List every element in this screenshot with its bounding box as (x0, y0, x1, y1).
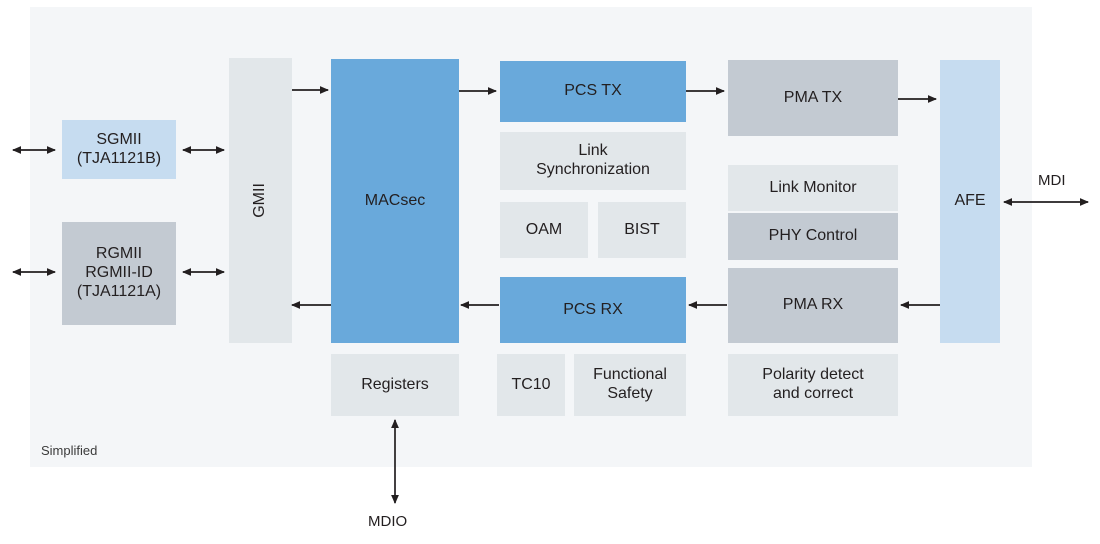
block-rgmii-line3: (TJA1121A) (77, 283, 161, 302)
block-link-sync-line2: Synchronization (536, 161, 650, 180)
block-macsec-label: MACsec (365, 192, 425, 211)
block-pcs-tx[interactable]: PCS TX (500, 61, 686, 122)
block-rgmii[interactable]: RGMII RGMII-ID (TJA1121A) (62, 222, 176, 325)
block-registers-label: Registers (361, 376, 429, 395)
block-functional-safety-line1: Functional (593, 366, 667, 385)
block-registers[interactable]: Registers (331, 354, 459, 416)
block-pma-tx[interactable]: PMA TX (728, 60, 898, 136)
block-macsec[interactable]: MACsec (331, 59, 459, 343)
block-pcs-tx-label: PCS TX (564, 82, 622, 101)
label-mdio: MDIO (368, 513, 407, 530)
block-polarity-detect[interactable]: Polarity detect and correct (728, 354, 898, 416)
block-link-monitor[interactable]: Link Monitor (728, 165, 898, 211)
phy-block-diagram: SGMII (TJA1121B) RGMII RGMII-ID (TJA1121… (0, 0, 1100, 544)
block-sgmii-line2: (TJA1121B) (77, 150, 161, 169)
block-afe-label: AFE (954, 192, 985, 211)
block-link-synchronization[interactable]: Link Synchronization (500, 132, 686, 190)
block-pma-tx-label: PMA TX (784, 89, 842, 108)
block-sgmii[interactable]: SGMII (TJA1121B) (62, 120, 176, 179)
block-pcs-rx[interactable]: PCS RX (500, 277, 686, 343)
block-link-monitor-label: Link Monitor (769, 179, 856, 198)
block-oam-label: OAM (526, 221, 562, 240)
block-sgmii-line1: SGMII (96, 131, 141, 150)
block-bist-label: BIST (624, 221, 660, 240)
block-bist[interactable]: BIST (598, 202, 686, 258)
caption-simplified: Simplified (41, 443, 97, 458)
label-mdi: MDI (1038, 172, 1066, 189)
block-pcs-rx-label: PCS RX (563, 301, 623, 320)
block-phy-control[interactable]: PHY Control (728, 213, 898, 260)
block-gmii[interactable]: GMII (229, 58, 292, 343)
block-gmii-label: GMII (251, 183, 270, 218)
block-afe[interactable]: AFE (940, 60, 1000, 343)
block-tc10-label: TC10 (511, 376, 550, 395)
block-polarity-line1: Polarity detect (762, 366, 863, 385)
block-functional-safety-line2: Safety (607, 385, 652, 404)
block-link-sync-line1: Link (578, 142, 607, 161)
block-phy-control-label: PHY Control (769, 227, 858, 246)
block-functional-safety[interactable]: Functional Safety (574, 354, 686, 416)
block-oam[interactable]: OAM (500, 202, 588, 258)
block-pma-rx[interactable]: PMA RX (728, 268, 898, 343)
block-pma-rx-label: PMA RX (783, 296, 843, 315)
block-polarity-line2: and correct (773, 385, 853, 404)
block-tc10[interactable]: TC10 (497, 354, 565, 416)
block-rgmii-line1: RGMII (96, 245, 142, 264)
block-rgmii-line2: RGMII-ID (85, 264, 153, 283)
